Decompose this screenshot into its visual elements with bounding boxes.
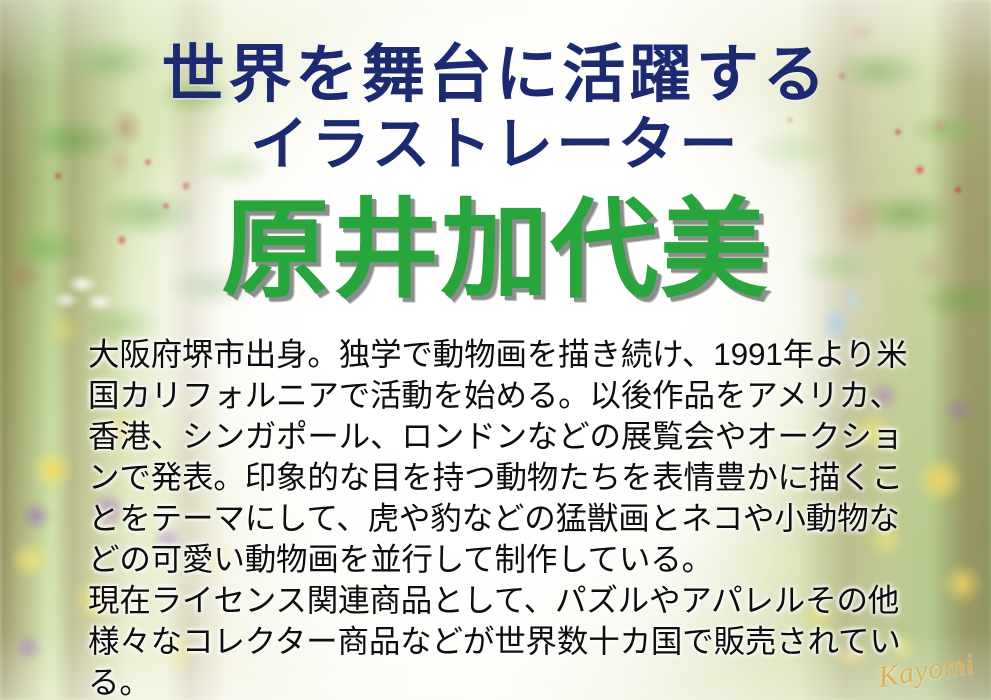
headline-line-1: 世界を舞台に活躍する (0, 44, 991, 107)
artist-name: 原井加代美 (0, 196, 991, 304)
poster-content: 世界を舞台に活躍する イラストレーター 原井加代美 大阪府堺市出身。独学で動物画… (0, 0, 991, 700)
biography-paragraph-1: 大阪府堺市出身。独学で動物画を描き続け、1991年より米国カリフォルニアで活動を… (88, 334, 908, 580)
biography-paragraph-2: 現在ライセンス関連商品として、パズルやアパレルその他様々なコレクター商品などが世… (88, 580, 908, 700)
artist-profile-poster: 世界を舞台に活躍する イラストレーター 原井加代美 大阪府堺市出身。独学で動物画… (0, 0, 991, 700)
artist-biography: 大阪府堺市出身。独学で動物画を描き続け、1991年より米国カリフォルニアで活動を… (88, 334, 908, 700)
headline-line-2: イラストレーター (0, 116, 991, 174)
